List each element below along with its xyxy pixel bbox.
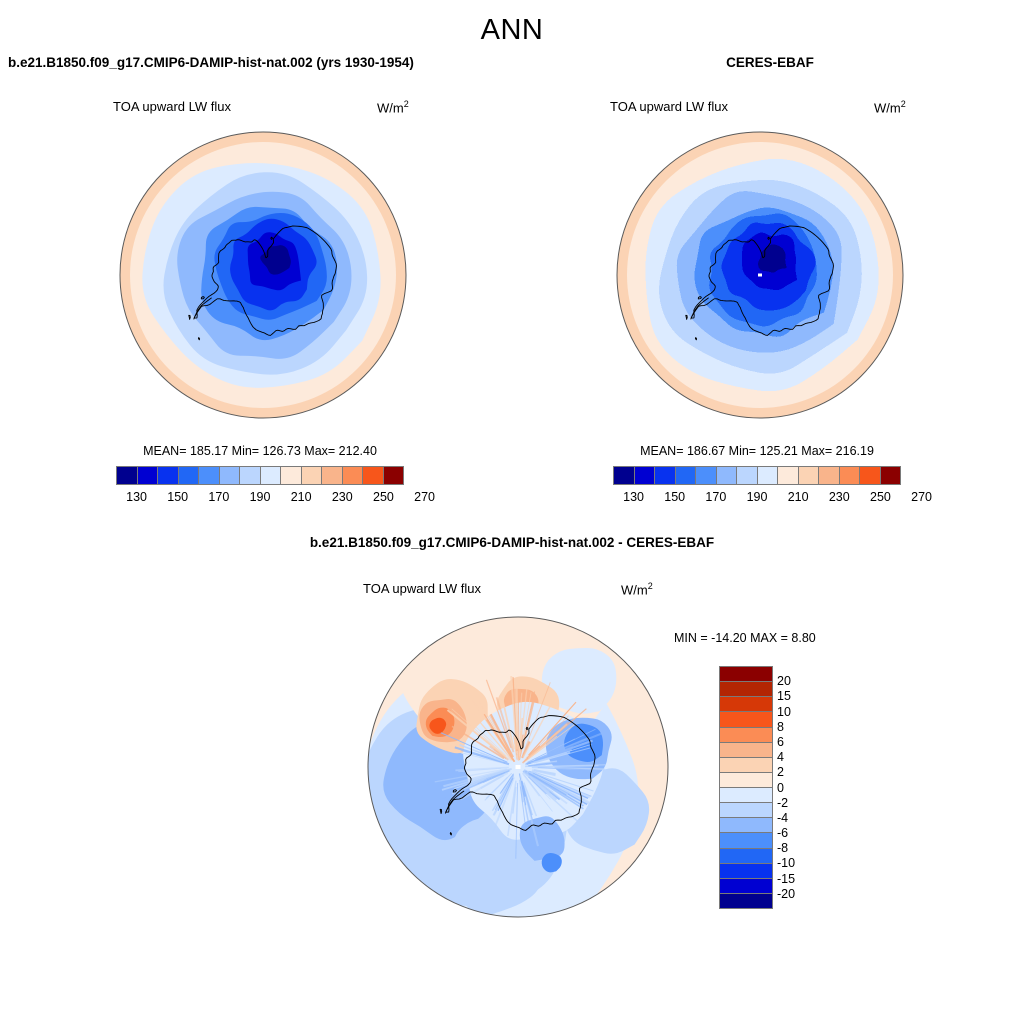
- colorbar-segment: [384, 467, 404, 484]
- coastline: [450, 833, 451, 835]
- colorbar-segment: [720, 803, 772, 818]
- stats-difference: MIN = -14.20 MAX = 8.80: [674, 631, 816, 645]
- colorbar-segment: [720, 818, 772, 833]
- colorbar-tick-label: 210: [291, 490, 312, 504]
- colorbar-segment: [240, 467, 261, 484]
- colorbar-segment: [799, 467, 820, 484]
- colorbar-segment: [220, 467, 241, 484]
- colorbar-tick-label: 270: [414, 490, 435, 504]
- colorbar-tick-label: -6: [777, 826, 788, 840]
- colorbar-segment: [363, 467, 384, 484]
- colorbar-segment: [199, 467, 220, 484]
- colorbar-tick-label: 6: [777, 735, 784, 749]
- colorbar-segment: [720, 833, 772, 848]
- colorbar-tick-label: 250: [870, 490, 891, 504]
- colorbar-tick-label: -20: [777, 887, 795, 901]
- colorbar-segment: [720, 849, 772, 864]
- colorbar-segment: [720, 864, 772, 879]
- colorbar-segment: [655, 467, 676, 484]
- colorbar-segment: [322, 467, 343, 484]
- colorbar-tick-label: 130: [126, 490, 147, 504]
- colorbar-segment: [778, 467, 799, 484]
- colorbar-segment: [635, 467, 656, 484]
- colorbar-tick-label: 2: [777, 765, 784, 779]
- stats-obs: MEAN= 186.67 Min= 125.21 Max= 216.19: [602, 444, 912, 458]
- panel-title-model: b.e21.B1850.f09_g17.CMIP6-DAMIP-hist-nat…: [8, 55, 528, 70]
- colorbar-segment: [720, 682, 772, 697]
- variable-label-obs: TOA upward LW flux: [610, 99, 728, 114]
- colorbar-segment: [819, 467, 840, 484]
- unit-label-obs: W/m2: [874, 99, 906, 115]
- coastline: [198, 337, 199, 339]
- coastline: [695, 337, 696, 339]
- colorbar-tick-label: 0: [777, 781, 784, 795]
- colorbar-tick-label: 270: [911, 490, 932, 504]
- colorbar-tick-label: 190: [250, 490, 271, 504]
- unit-label-model: W/m2: [377, 99, 409, 115]
- colorbar-segment: [302, 467, 323, 484]
- colorbar-segment: [720, 667, 772, 682]
- stats-model: MEAN= 185.17 Min= 126.73 Max= 212.40: [105, 444, 415, 458]
- colorbar-tick-label: -10: [777, 856, 795, 870]
- colorbar-difference: [719, 666, 773, 909]
- colorbar-tick-label: -2: [777, 796, 788, 810]
- colorbar-segment: [696, 467, 717, 484]
- colorbar-tick-label: 170: [208, 490, 229, 504]
- colorbar-tick-label: 10: [777, 705, 791, 719]
- colorbar-segment: [720, 879, 772, 894]
- colorbar-tick-label: 150: [167, 490, 188, 504]
- colorbar-tick-label: 150: [664, 490, 685, 504]
- pole-marker: [758, 274, 762, 277]
- colorbar-segment: [720, 788, 772, 803]
- colorbar-segment: [737, 467, 758, 484]
- colorbar-segment: [717, 467, 738, 484]
- colorbar-segment: [881, 467, 901, 484]
- colorbar-obs: 130150170190210230250270: [613, 466, 901, 508]
- colorbar-segment: [281, 467, 302, 484]
- panel-title-difference: b.e21.B1850.f09_g17.CMIP6-DAMIP-hist-nat…: [0, 535, 1024, 550]
- colorbar-segment: [720, 697, 772, 712]
- pole-marker: [516, 765, 521, 769]
- colorbar-segment: [720, 712, 772, 727]
- colorbar-tick-label: 20: [777, 674, 791, 688]
- colorbar-tick-label: 170: [705, 490, 726, 504]
- colorbar-tick-label: -15: [777, 872, 795, 886]
- polar-map-difference: [368, 612, 668, 922]
- colorbar-tick-label: -8: [777, 841, 788, 855]
- colorbar-tick-label: 4: [777, 750, 784, 764]
- colorbar-tick-label: 15: [777, 689, 791, 703]
- colorbar-tick-label: 230: [829, 490, 850, 504]
- colorbar-tick-label: 190: [747, 490, 768, 504]
- panel-title-obs: CERES-EBAF: [560, 55, 980, 70]
- colorbar-tick-label: 230: [332, 490, 353, 504]
- polar-map-model: [120, 125, 406, 425]
- colorbar-tick-label: 8: [777, 720, 784, 734]
- colorbar-tick-label: -4: [777, 811, 788, 825]
- colorbar-segment: [614, 467, 635, 484]
- polar-map-obs: [617, 125, 903, 425]
- page-title: ANN: [0, 14, 1024, 47]
- colorbar-segment: [117, 467, 138, 484]
- variable-label-model: TOA upward LW flux: [113, 99, 231, 114]
- colorbar-segment: [720, 728, 772, 743]
- colorbar-segment: [676, 467, 697, 484]
- regrid-spoke: [517, 679, 518, 747]
- colorbar-model: 130150170190210230250270: [116, 466, 404, 508]
- colorbar-segment: [179, 467, 200, 484]
- colorbar-tick-label: 250: [373, 490, 394, 504]
- colorbar-segment: [720, 773, 772, 788]
- colorbar-segment: [720, 743, 772, 758]
- colorbar-segment: [138, 467, 159, 484]
- colorbar-segment: [261, 467, 282, 484]
- colorbar-tick-label: 210: [788, 490, 809, 504]
- colorbar-segment: [343, 467, 364, 484]
- colorbar-segment: [158, 467, 179, 484]
- colorbar-segment: [840, 467, 861, 484]
- colorbar-tick-label: 130: [623, 490, 644, 504]
- colorbar-difference-labels: 20151086420-2-4-6-8-10-15-20: [777, 666, 837, 909]
- colorbar-segment: [720, 758, 772, 773]
- colorbar-segment: [720, 894, 772, 908]
- colorbar-segment: [860, 467, 881, 484]
- colorbar-segment: [758, 467, 779, 484]
- variable-label-difference: TOA upward LW flux: [363, 581, 481, 596]
- unit-label-difference: W/m2: [621, 581, 653, 597]
